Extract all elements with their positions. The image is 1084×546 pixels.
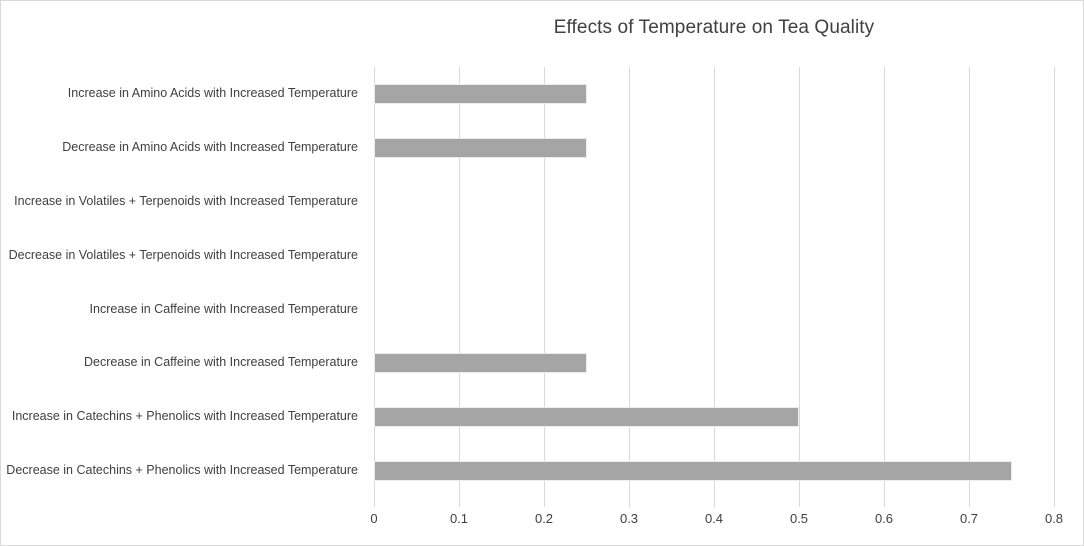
tick-label: 0 — [370, 511, 377, 526]
category-label: Decrease in Caffeine with Increased Temp… — [84, 356, 358, 370]
bar[interactable] — [374, 138, 587, 158]
tick-mark-0.4 — [714, 498, 715, 507]
bar-band — [374, 283, 1054, 337]
chart-container: Effects of Temperature on Tea Quality In… — [0, 0, 1084, 546]
category-label: Decrease in Volatiles + Terpenoids with … — [9, 249, 358, 263]
category-label: Increase in Amino Acids with Increased T… — [68, 87, 358, 101]
tick-label: 0.2 — [535, 511, 553, 526]
category-label: Decrease in Amino Acids with Increased T… — [62, 141, 358, 155]
bar[interactable] — [374, 353, 587, 373]
category-label-row: Increase in Amino Acids with Increased T… — [1, 67, 366, 121]
bar[interactable] — [374, 407, 799, 427]
category-label-row: Increase in Catechins + Phenolics with I… — [1, 390, 366, 444]
bar-band — [374, 390, 1054, 444]
tick-mark-0.5 — [799, 498, 800, 507]
bar-band — [374, 229, 1054, 283]
tick-label: 0.3 — [620, 511, 638, 526]
tick-mark-0.6 — [884, 498, 885, 507]
tick-label: 0.7 — [960, 511, 978, 526]
plot-area — [374, 67, 1054, 498]
category-label: Increase in Volatiles + Terpenoids with … — [14, 195, 358, 209]
tick-label: 0.6 — [875, 511, 893, 526]
bar-band — [374, 67, 1054, 121]
tick-mark-0.2 — [544, 498, 545, 507]
tick-mark-0.8 — [1054, 498, 1055, 507]
category-label: Increase in Caffeine with Increased Temp… — [90, 303, 358, 317]
category-label: Decrease in Catechins + Phenolics with I… — [6, 464, 358, 478]
category-label-row: Decrease in Caffeine with Increased Temp… — [1, 336, 366, 390]
bar-band — [374, 175, 1054, 229]
bar-series — [374, 67, 1054, 498]
tick-label: 0.4 — [705, 511, 723, 526]
bar-band — [374, 121, 1054, 175]
category-axis-labels: Increase in Amino Acids with Increased T… — [1, 67, 366, 498]
gridline-0.8 — [1054, 67, 1055, 498]
bar-band — [374, 444, 1054, 498]
tick-label: 0.1 — [450, 511, 468, 526]
tick-mark-0.3 — [629, 498, 630, 507]
category-label-row: Decrease in Volatiles + Terpenoids with … — [1, 229, 366, 283]
chart-title: Effects of Temperature on Tea Quality — [374, 17, 1054, 39]
bar[interactable] — [374, 84, 587, 104]
category-label-row: Decrease in Amino Acids with Increased T… — [1, 121, 366, 175]
tick-mark-0.1 — [459, 498, 460, 507]
tick-mark-0 — [374, 498, 375, 507]
category-label: Increase in Catechins + Phenolics with I… — [12, 410, 358, 424]
bar[interactable] — [374, 461, 1012, 481]
tick-label: 0.8 — [1045, 511, 1063, 526]
tick-label: 0.5 — [790, 511, 808, 526]
category-label-row: Increase in Caffeine with Increased Temp… — [1, 283, 366, 337]
value-axis: 00.10.20.30.40.50.60.70.8 — [374, 498, 1054, 543]
category-label-row: Increase in Volatiles + Terpenoids with … — [1, 175, 366, 229]
category-label-row: Decrease in Catechins + Phenolics with I… — [1, 444, 366, 498]
tick-mark-0.7 — [969, 498, 970, 507]
bar-band — [374, 336, 1054, 390]
